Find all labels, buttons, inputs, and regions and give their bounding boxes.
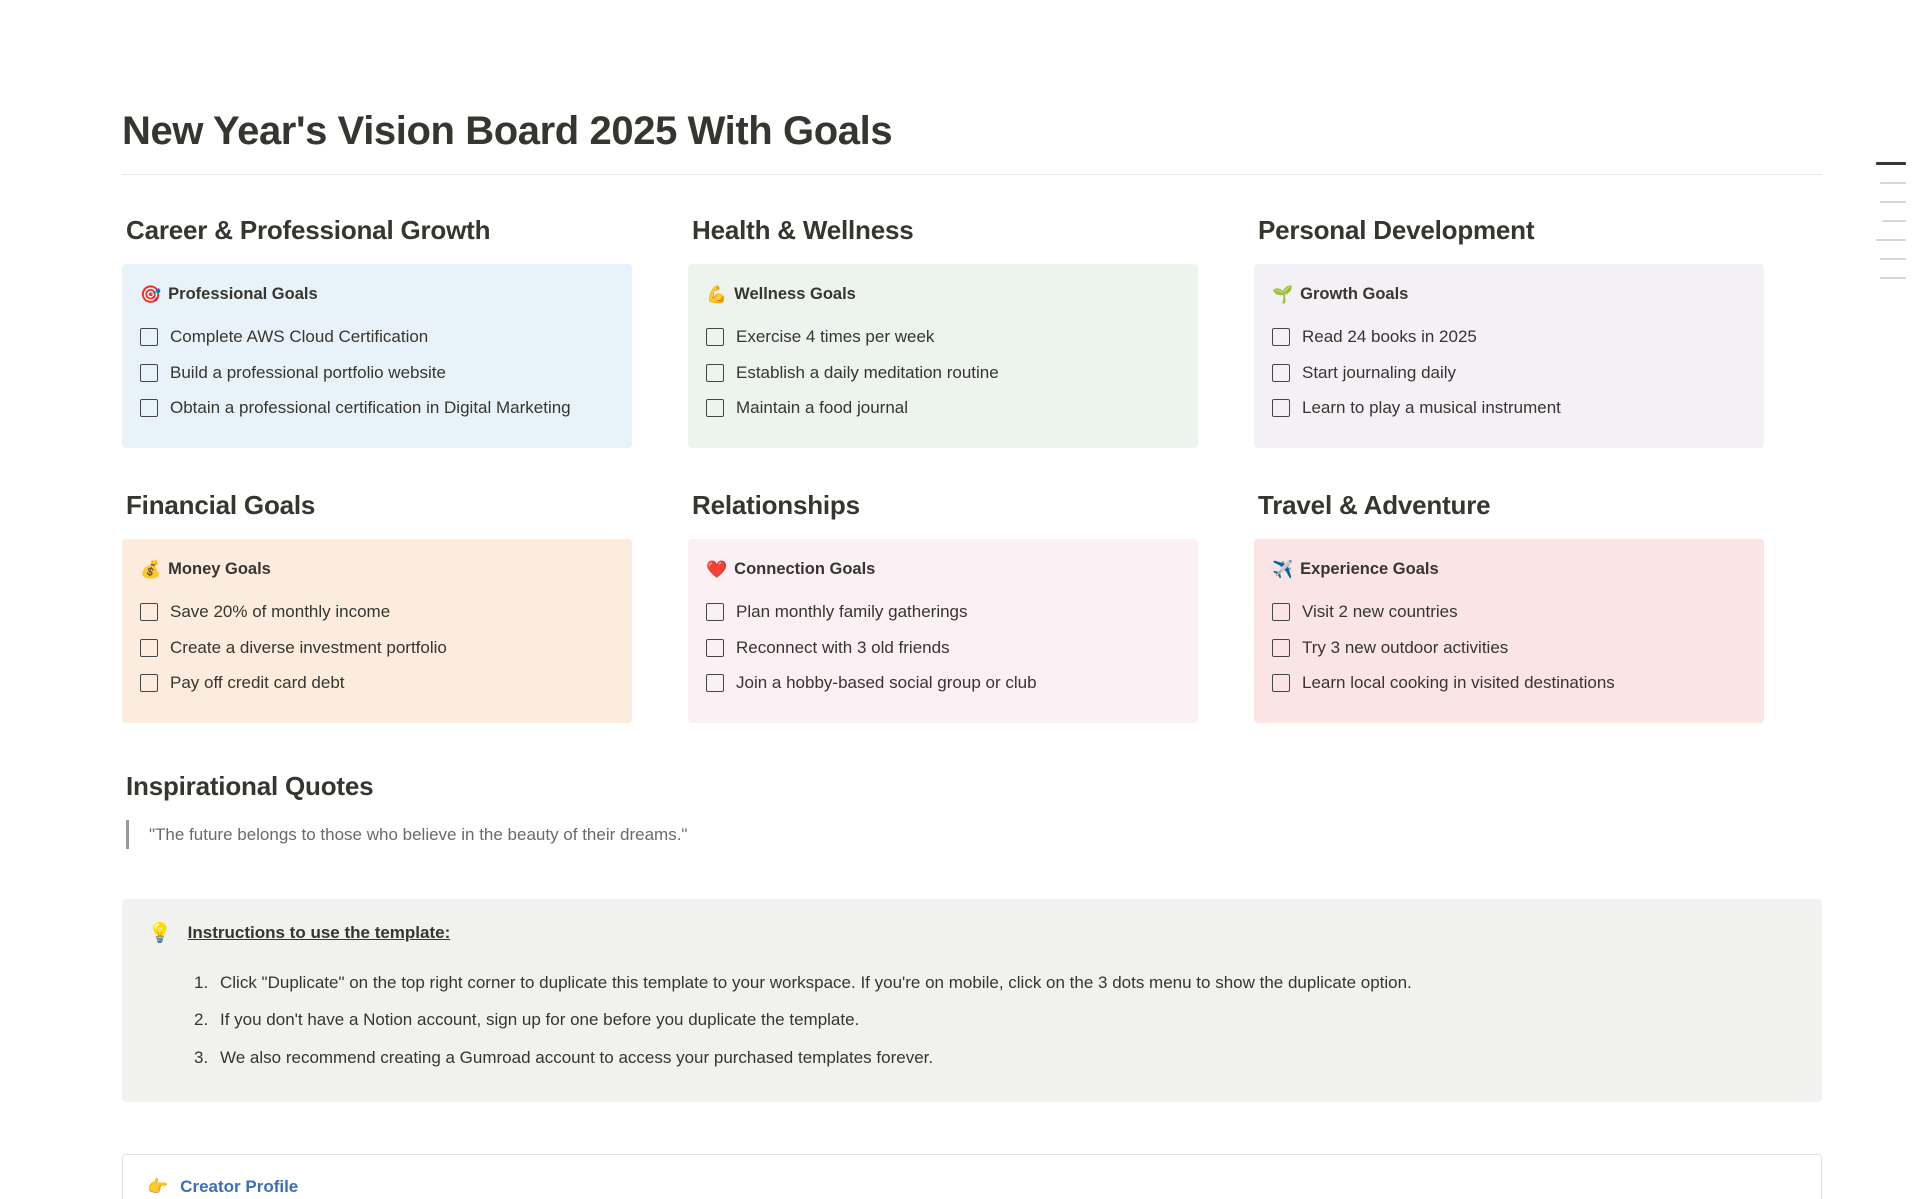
section-heading: Health & Wellness	[692, 215, 1198, 246]
callout-title: Instructions to use the template:	[188, 921, 451, 945]
todo-item[interactable]: Obtain a professional certification in D…	[140, 390, 614, 426]
document-page: New Year's Vision Board 2025 With Goals …	[0, 0, 1920, 1199]
todo-label: Pay off credit card debt	[170, 670, 345, 696]
todo-item[interactable]: Learn local cooking in visited destinati…	[1272, 665, 1746, 701]
section-heading: Financial Goals	[126, 490, 632, 521]
section-financial: Financial Goals 💰 Money Goals Save 20% o…	[122, 490, 688, 723]
todo-item[interactable]: Exercise 4 times per week	[706, 319, 1180, 355]
list-item: If you don't have a Notion account, sign…	[220, 1001, 1796, 1039]
quote-block: "The future belongs to those who believe…	[126, 820, 1822, 850]
todo-item[interactable]: Build a professional portfolio website	[140, 355, 614, 391]
outline-marker[interactable]	[1882, 220, 1906, 222]
card-heading: 💰 Money Goals	[140, 559, 614, 580]
callout-header: 💡 Instructions to use the template:	[148, 921, 1796, 948]
card-heading: ❤️ Connection Goals	[706, 559, 1180, 580]
quotes-heading: Inspirational Quotes	[126, 771, 1822, 802]
section-personal-development: Personal Development 🌱 Growth Goals Read…	[1254, 215, 1820, 448]
todo-item[interactable]: Read 24 books in 2025	[1272, 319, 1746, 355]
section-heading: Travel & Adventure	[1258, 490, 1764, 521]
card-heading: 💪 Wellness Goals	[706, 284, 1180, 305]
todo-item[interactable]: Establish a daily meditation routine	[706, 355, 1180, 391]
todo-label: Obtain a professional certification in D…	[170, 395, 571, 421]
todo-label: Complete AWS Cloud Certification	[170, 324, 428, 350]
todo-label: Build a professional portfolio website	[170, 360, 446, 386]
card-heading: ✈️ Experience Goals	[1272, 559, 1746, 580]
section-health: Health & Wellness 💪 Wellness Goals Exerc…	[688, 215, 1254, 448]
todo-item[interactable]: Complete AWS Cloud Certification	[140, 319, 614, 355]
checkbox-icon[interactable]	[1272, 328, 1290, 346]
checkbox-icon[interactable]	[706, 639, 724, 657]
target-icon: 🎯	[140, 286, 161, 303]
muscle-icon: 💪	[706, 286, 727, 303]
seedling-icon: 🌱	[1272, 286, 1293, 303]
heart-icon: ❤️	[706, 561, 727, 578]
pointing-right-icon: 👉	[147, 1175, 168, 1199]
checkbox-icon[interactable]	[140, 399, 158, 417]
checkbox-icon[interactable]	[706, 364, 724, 382]
section-relationships: Relationships ❤️ Connection Goals Plan m…	[688, 490, 1254, 723]
todo-label: Start journaling daily	[1302, 360, 1456, 386]
lightbulb-icon: 💡	[148, 921, 172, 948]
goal-sections-grid: Career & Professional Growth 🎯 Professio…	[122, 215, 1822, 723]
todo-label: Save 20% of monthly income	[170, 599, 390, 625]
checkbox-icon[interactable]	[1272, 674, 1290, 692]
section-heading: Personal Development	[1258, 215, 1764, 246]
outline-marker[interactable]	[1880, 201, 1906, 203]
todo-item[interactable]: Join a hobby-based social group or club	[706, 665, 1180, 701]
todo-label: Try 3 new outdoor activities	[1302, 635, 1508, 661]
todo-label: Exercise 4 times per week	[736, 324, 934, 350]
todo-label: Read 24 books in 2025	[1302, 324, 1477, 350]
checkbox-icon[interactable]	[1272, 399, 1290, 417]
creator-profile-box[interactable]: 👉 Creator Profile	[122, 1154, 1822, 1199]
goal-card: 🎯 Professional Goals Complete AWS Cloud …	[122, 264, 632, 448]
goal-card: 💪 Wellness Goals Exercise 4 times per we…	[688, 264, 1198, 448]
todo-label: Learn local cooking in visited destinati…	[1302, 670, 1615, 696]
card-heading: 🎯 Professional Goals	[140, 284, 614, 305]
todo-label: Visit 2 new countries	[1302, 599, 1458, 625]
airplane-icon: ✈️	[1272, 561, 1293, 578]
card-title: Experience Goals	[1300, 559, 1439, 580]
card-heading: 🌱 Growth Goals	[1272, 284, 1746, 305]
todo-item[interactable]: Start journaling daily	[1272, 355, 1746, 391]
todo-label: Create a diverse investment portfolio	[170, 635, 447, 661]
todo-label: Reconnect with 3 old friends	[736, 635, 950, 661]
instructions-list: Click "Duplicate" on the top right corne…	[148, 964, 1796, 1077]
checkbox-icon[interactable]	[1272, 603, 1290, 621]
todo-item[interactable]: Maintain a food journal	[706, 390, 1180, 426]
outline-marker[interactable]	[1880, 182, 1906, 184]
todo-item[interactable]: Plan monthly family gatherings	[706, 594, 1180, 630]
section-travel: Travel & Adventure ✈️ Experience Goals V…	[1254, 490, 1820, 723]
outline-marker[interactable]	[1876, 162, 1906, 165]
todo-label: Plan monthly family gatherings	[736, 599, 968, 625]
page-content: New Year's Vision Board 2025 With Goals …	[122, 0, 1822, 1199]
todo-item[interactable]: Try 3 new outdoor activities	[1272, 630, 1746, 666]
outline-marker[interactable]	[1880, 258, 1906, 260]
section-heading: Relationships	[692, 490, 1198, 521]
todo-item[interactable]: Save 20% of monthly income	[140, 594, 614, 630]
outline-marker[interactable]	[1880, 277, 1906, 279]
section-career: Career & Professional Growth 🎯 Professio…	[122, 215, 688, 448]
inspirational-quotes-section: Inspirational Quotes "The future belongs…	[122, 771, 1822, 850]
checkbox-icon[interactable]	[1272, 364, 1290, 382]
outline-marker[interactable]	[1876, 239, 1906, 241]
todo-item[interactable]: Create a diverse investment portfolio	[140, 630, 614, 666]
section-heading: Career & Professional Growth	[126, 215, 632, 246]
page-title: New Year's Vision Board 2025 With Goals	[122, 0, 1822, 154]
creator-profile-link[interactable]: 👉 Creator Profile	[147, 1175, 1797, 1199]
list-item: We also recommend creating a Gumroad acc…	[220, 1039, 1796, 1077]
checkbox-icon[interactable]	[1272, 639, 1290, 657]
checkbox-icon[interactable]	[706, 399, 724, 417]
checkbox-icon[interactable]	[706, 603, 724, 621]
goal-card: 🌱 Growth Goals Read 24 books in 2025 Sta…	[1254, 264, 1764, 448]
checkbox-icon[interactable]	[706, 328, 724, 346]
todo-item[interactable]: Visit 2 new countries	[1272, 594, 1746, 630]
list-item: Click "Duplicate" on the top right corne…	[220, 964, 1796, 1002]
todo-item[interactable]: Reconnect with 3 old friends	[706, 630, 1180, 666]
card-title: Wellness Goals	[734, 284, 856, 305]
instructions-callout: 💡 Instructions to use the template: Clic…	[122, 899, 1822, 1102]
todo-label: Learn to play a musical instrument	[1302, 395, 1561, 421]
card-title: Growth Goals	[1300, 284, 1408, 305]
card-title: Connection Goals	[734, 559, 875, 580]
goal-card: ❤️ Connection Goals Plan monthly family …	[688, 539, 1198, 723]
goal-card: 💰 Money Goals Save 20% of monthly income…	[122, 539, 632, 723]
outline-indicator[interactable]	[1862, 162, 1906, 279]
todo-item[interactable]: Pay off credit card debt	[140, 665, 614, 701]
money-bag-icon: 💰	[140, 561, 161, 578]
creator-profile-label: Creator Profile	[180, 1175, 298, 1199]
checkbox-icon[interactable]	[140, 639, 158, 657]
checkbox-icon[interactable]	[140, 603, 158, 621]
checkbox-icon[interactable]	[140, 364, 158, 382]
card-title: Professional Goals	[168, 284, 317, 305]
card-title: Money Goals	[168, 559, 271, 580]
checkbox-icon[interactable]	[140, 328, 158, 346]
todo-label: Establish a daily meditation routine	[736, 360, 999, 386]
todo-label: Maintain a food journal	[736, 395, 908, 421]
checkbox-icon[interactable]	[706, 674, 724, 692]
todo-item[interactable]: Learn to play a musical instrument	[1272, 390, 1746, 426]
title-divider	[122, 174, 1822, 175]
todo-label: Join a hobby-based social group or club	[736, 670, 1037, 696]
checkbox-icon[interactable]	[140, 674, 158, 692]
goal-card: ✈️ Experience Goals Visit 2 new countrie…	[1254, 539, 1764, 723]
